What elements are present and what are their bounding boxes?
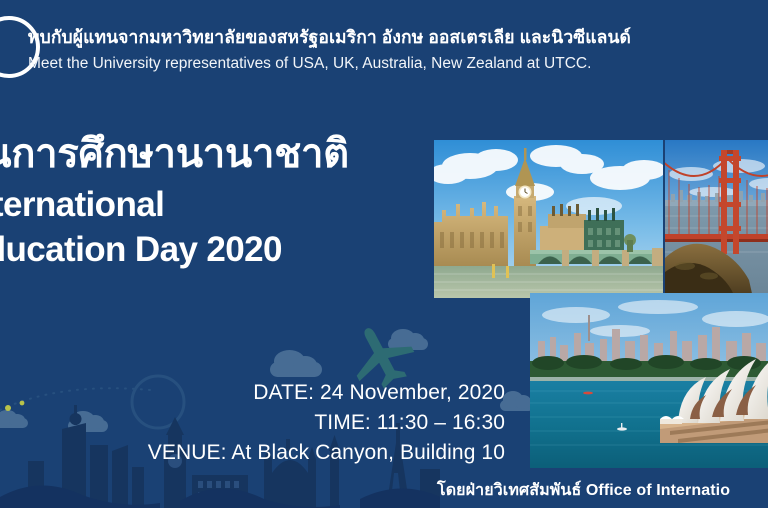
cloud-icon [500, 400, 534, 411]
event-details: DATE: 24 November, 2020 TIME: 11:30 – 16… [148, 378, 505, 467]
poster-header: พบกับผู้แทนจากมหาวิทยาลัยของสหรัฐอเมริกา… [0, 0, 768, 104]
photo-golden-gate-bridge [665, 140, 768, 298]
title-english-line-1: International [0, 183, 432, 228]
header-text-group: พบกับผู้แทนจากมหาวิทยาลัยของสหรัฐอเมริกา… [28, 26, 764, 75]
title-thai: วันการศึกษานานาชาติ [0, 132, 432, 177]
event-venue: VENUE: At Black Canyon, Building 10 [148, 438, 505, 468]
event-time: TIME: 11:30 – 16:30 [148, 408, 505, 438]
page-title: วันการศึกษานานาชาติ International Educat… [0, 132, 432, 272]
event-date: DATE: 24 November, 2020 [148, 378, 505, 408]
photo-london-big-ben [434, 140, 663, 298]
hill-decoration [0, 469, 440, 509]
title-english-line-2: Education Day 2020 [0, 228, 432, 273]
organizer-footer: โดยฝ่ายวิเทศสัมพันธ์ Office of Internati… [437, 478, 730, 503]
event-poster: พบกับผู้แทนจากมหาวิทยาลัยของสหรัฐอเมริกา… [0, 0, 768, 512]
header-thai-line: พบกับผู้แทนจากมหาวิทยาลัยของสหรัฐอเมริกา… [28, 26, 764, 49]
header-english-line: Meet the University representatives of U… [28, 53, 764, 75]
bottom-white-strip [0, 508, 768, 512]
cloud-icon [0, 418, 28, 428]
cloud-icon [68, 420, 108, 432]
cloud-icon [270, 362, 322, 377]
photo-sydney-opera-house [530, 293, 768, 468]
cloud-icon [388, 338, 428, 350]
